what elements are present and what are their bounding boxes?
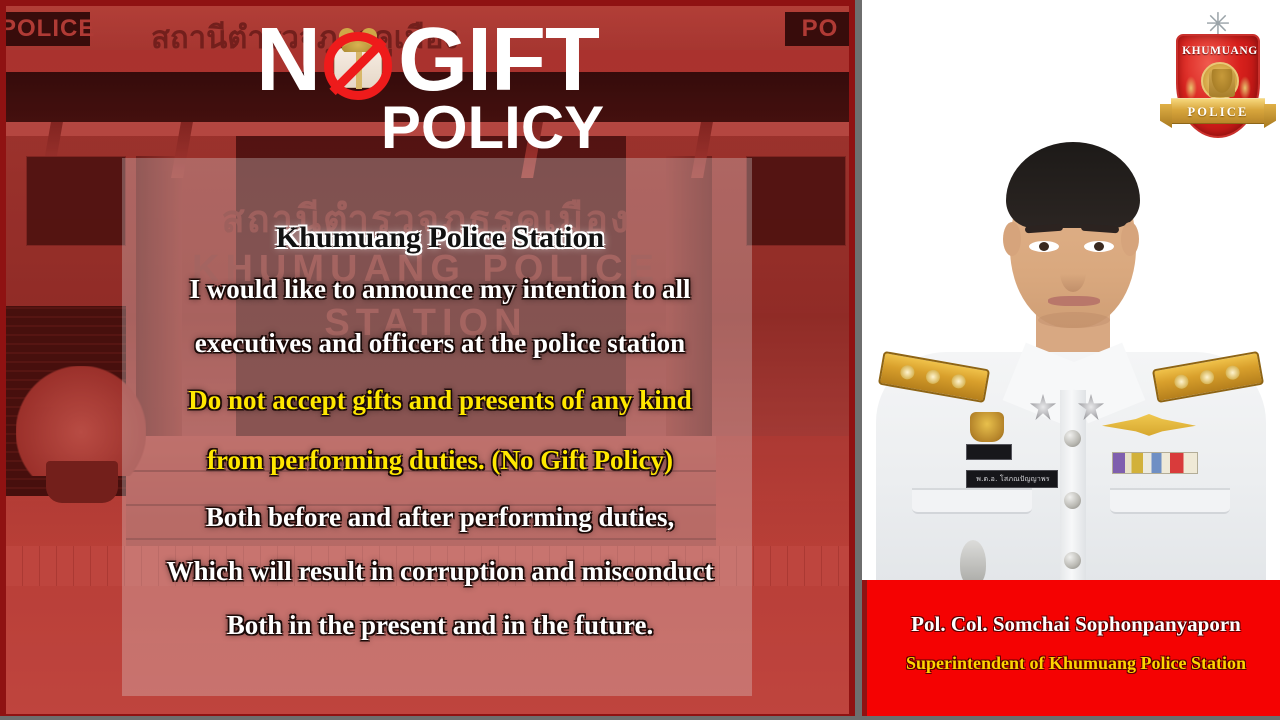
portrait-mouth xyxy=(1048,296,1100,306)
epaulette-pip xyxy=(1225,365,1241,381)
header-word-policy: POLICY xyxy=(251,94,604,161)
no-gift-policy-poster: สถานีตำรวจภูธรคูเมือง POLICE PO สถานีตำร… xyxy=(0,0,1280,720)
uniform-name-tag-text: พ.ต.อ. โสภณปัญญาพร xyxy=(967,474,1059,485)
epaulette-pip xyxy=(951,373,967,389)
header-word-gift: GIFT xyxy=(398,15,599,105)
badge-crest-icon xyxy=(1209,69,1235,97)
statement-line-3-highlight: Do not accept gifts and presents of any … xyxy=(110,370,770,430)
portrait-chin xyxy=(1038,312,1110,328)
officer-title: Superintendent of Khumuang Police Statio… xyxy=(867,653,1280,674)
badge-top-text: KHUMUANG xyxy=(1178,45,1262,57)
portrait-hair xyxy=(1006,142,1140,228)
statement-line-2: executives and officers at the police st… xyxy=(110,316,770,370)
statement-line-1: I would like to announce my intention to… xyxy=(110,262,770,316)
statement-title: Khumuang Police Station xyxy=(110,214,770,262)
left-panel: สถานีตำรวจภูธรคูเมือง POLICE PO สถานีตำร… xyxy=(0,0,855,720)
statement-line-4-highlight: from performing duties. (No Gift Policy) xyxy=(110,430,770,490)
officer-name: Pol. Col. Somchai Sophonpanyaporn xyxy=(867,612,1280,637)
uniform-button xyxy=(1064,552,1081,569)
officer-nameplate: Pol. Col. Somchai Sophonpanyaporn Superi… xyxy=(862,580,1280,716)
shield-insignia-pin xyxy=(970,412,1004,442)
portrait-ear-left xyxy=(1003,222,1021,256)
statement-line-7: Both in the present and in the future. xyxy=(110,598,770,652)
service-bar-pin xyxy=(966,444,1012,460)
portrait-eye-left xyxy=(1029,241,1059,252)
header-block: N GIFT POLICY xyxy=(0,14,855,149)
badge-crest-ring-icon xyxy=(1201,62,1239,100)
uniform-button xyxy=(1064,492,1081,509)
uniform-button xyxy=(1064,430,1081,447)
uniform-pocket-right xyxy=(1110,488,1230,576)
portrait-nose xyxy=(1060,252,1086,292)
no-gift-icon xyxy=(320,22,396,98)
portrait-iris xyxy=(1039,242,1049,251)
statement-line-5: Both before and after performing duties, xyxy=(110,490,770,544)
epaulette-pip xyxy=(925,369,941,385)
epaulette-pip xyxy=(899,364,915,380)
bottom-edge xyxy=(0,716,1280,720)
statement-line-6: Which will result in corruption and misc… xyxy=(110,544,770,598)
badge-ribbon-text: POLICE xyxy=(1171,98,1265,124)
right-panel: พ.ต.อ. โสภณปัญญาพร ✳ KHUMUANG K M POLICE xyxy=(862,0,1280,716)
portrait-ear-right xyxy=(1121,222,1139,256)
epaulette-pip xyxy=(1173,374,1189,390)
epaulette-pip xyxy=(1199,369,1215,385)
uniform-name-tag: พ.ต.อ. โสภณปัญญาพร xyxy=(966,470,1058,488)
header-line-policy: POLICY xyxy=(0,98,855,158)
medal-ribbon-bar xyxy=(1112,452,1198,474)
portrait-iris xyxy=(1094,242,1104,251)
khumuang-police-badge: ✳ KHUMUANG K M POLICE xyxy=(1172,6,1264,156)
statement-text-block: Khumuang Police Station I would like to … xyxy=(110,214,770,652)
header-line-no-gift: N GIFT xyxy=(0,14,855,106)
header-word-no: N xyxy=(256,15,320,105)
badge-ornament-left xyxy=(1185,76,1197,100)
portrait-eye-right xyxy=(1084,241,1114,252)
badge-ornament-right xyxy=(1239,76,1251,100)
